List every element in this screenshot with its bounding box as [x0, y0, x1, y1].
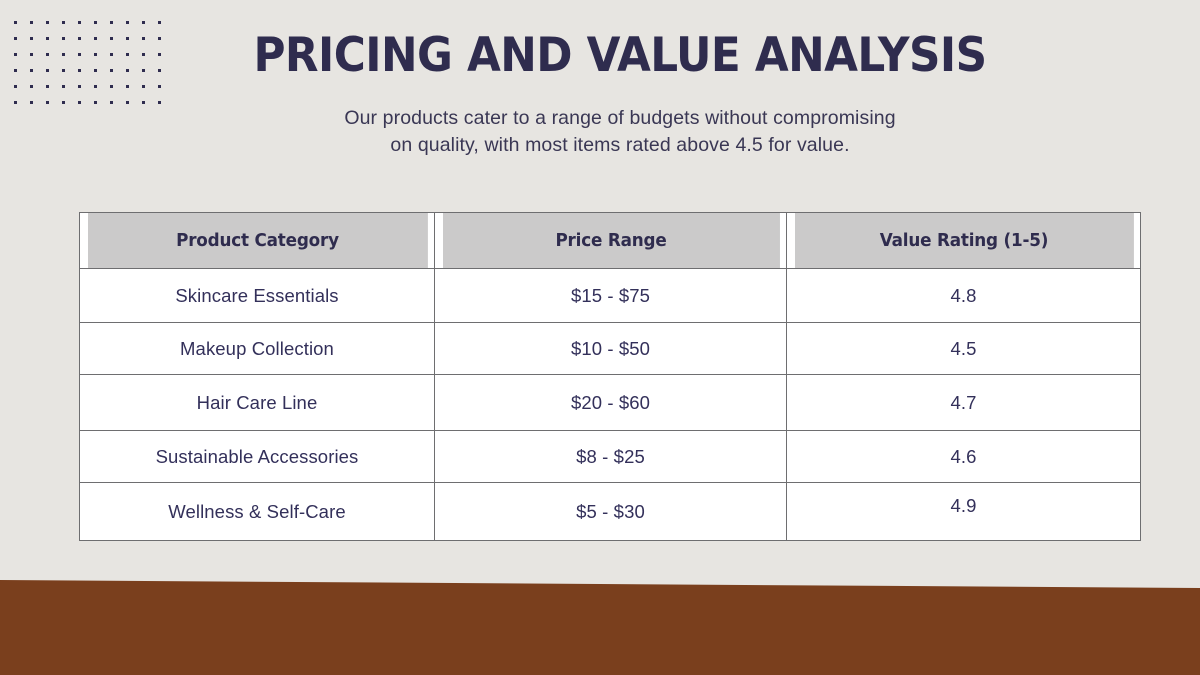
grid-dot: [142, 101, 145, 104]
grid-dot: [94, 21, 97, 24]
cell-rating: 4.5: [787, 323, 1141, 375]
cell-category: Hair Care Line: [80, 375, 435, 431]
grid-dot: [126, 69, 129, 72]
grid-dot: [46, 21, 49, 24]
grid-dot: [126, 37, 129, 40]
grid-dot: [110, 37, 113, 40]
subtitle-line-1: Our products cater to a range of budgets…: [180, 105, 1060, 133]
cell-price: $20 - $60: [435, 375, 787, 431]
grid-dot: [78, 85, 81, 88]
grid-dot: [110, 85, 113, 88]
grid-dot: [142, 53, 145, 56]
grid-dot: [78, 37, 81, 40]
grid-dot: [94, 101, 97, 104]
table-header-row: Product Category Price Range Value Ratin…: [80, 213, 1141, 269]
grid-dot: [78, 69, 81, 72]
grid-dot: [14, 69, 17, 72]
grid-dot: [46, 85, 49, 88]
grid-dot: [126, 53, 129, 56]
subtitle-line-2: on quality, with most items rated above …: [180, 132, 1060, 160]
grid-dot: [62, 101, 65, 104]
dot-row: [14, 14, 166, 30]
grid-dot: [94, 85, 97, 88]
grid-dot: [158, 69, 161, 72]
dot-row: [14, 62, 166, 78]
grid-dot: [78, 101, 81, 104]
cell-rating: 4.6: [787, 431, 1141, 483]
grid-dot: [78, 53, 81, 56]
grid-dot: [30, 53, 33, 56]
dot-row: [14, 46, 166, 62]
grid-dot: [110, 53, 113, 56]
grid-dot: [14, 85, 17, 88]
grid-dot: [46, 69, 49, 72]
cell-rating: 4.7: [787, 375, 1141, 431]
column-header-value-rating: Value Rating (1-5): [794, 213, 1134, 269]
grid-dot: [110, 101, 113, 104]
grid-dot: [14, 37, 17, 40]
grid-dot: [46, 53, 49, 56]
grid-dot: [158, 21, 161, 24]
grid-dot: [30, 21, 33, 24]
pricing-table: Product Category Price Range Value Ratin…: [79, 212, 1141, 541]
table-row: Sustainable Accessories $8 - $25 4.6: [80, 431, 1141, 483]
cell-rating: 4.8: [787, 269, 1141, 323]
heading-block: PRICING AND VALUE ANALYSIS Our products …: [180, 30, 1060, 160]
dot-row: [14, 78, 166, 94]
table-row: Makeup Collection $10 - $50 4.5: [80, 323, 1141, 375]
dot-row: [14, 30, 166, 46]
table-row: Hair Care Line $20 - $60 4.7: [80, 375, 1141, 431]
grid-dot: [46, 37, 49, 40]
page-title: PRICING AND VALUE ANALYSIS: [211, 30, 1029, 83]
grid-dot: [126, 85, 129, 88]
grid-dot: [158, 37, 161, 40]
grid-dot: [158, 53, 161, 56]
cell-category: Sustainable Accessories: [80, 431, 435, 483]
grid-dot: [30, 85, 33, 88]
grid-dot: [110, 69, 113, 72]
grid-dot: [94, 37, 97, 40]
grid-dot: [62, 85, 65, 88]
grid-dot: [110, 21, 113, 24]
column-header-product-category: Product Category: [87, 213, 428, 269]
angled-brown-band: [0, 580, 1200, 675]
grid-dot: [142, 85, 145, 88]
cell-category: Wellness & Self-Care: [80, 483, 435, 541]
grid-dot: [30, 101, 33, 104]
grid-dot: [14, 53, 17, 56]
cell-price: $8 - $25: [435, 431, 787, 483]
grid-dot: [14, 21, 17, 24]
cell-price: $15 - $75: [435, 269, 787, 323]
grid-dot: [14, 101, 17, 104]
grid-dot: [30, 37, 33, 40]
grid-dot: [126, 101, 129, 104]
table-row: Skincare Essentials $15 - $75 4.8: [80, 269, 1141, 323]
grid-dot: [62, 37, 65, 40]
grid-dot: [158, 101, 161, 104]
table-row: Wellness & Self-Care $5 - $30 4.9: [80, 483, 1141, 541]
grid-dot: [46, 101, 49, 104]
grid-dot: [30, 69, 33, 72]
grid-dot: [62, 21, 65, 24]
cell-price: $5 - $30: [435, 483, 787, 541]
grid-dot: [94, 53, 97, 56]
column-header-price-range: Price Range: [442, 213, 780, 269]
cell-category: Makeup Collection: [80, 323, 435, 375]
dot-row: [14, 94, 166, 110]
grid-dot: [62, 69, 65, 72]
cell-category: Skincare Essentials: [80, 269, 435, 323]
grid-dot: [142, 21, 145, 24]
grid-dot: [78, 21, 81, 24]
grid-dot: [158, 85, 161, 88]
cell-rating: 4.9: [787, 483, 1141, 541]
slide-subtitle: Our products cater to a range of budgets…: [180, 105, 1060, 160]
grid-dot: [62, 53, 65, 56]
cell-price: $10 - $50: [435, 323, 787, 375]
grid-dot: [126, 21, 129, 24]
dot-grid-decoration: [14, 14, 166, 102]
grid-dot: [142, 37, 145, 40]
grid-dot: [142, 69, 145, 72]
grid-dot: [94, 69, 97, 72]
